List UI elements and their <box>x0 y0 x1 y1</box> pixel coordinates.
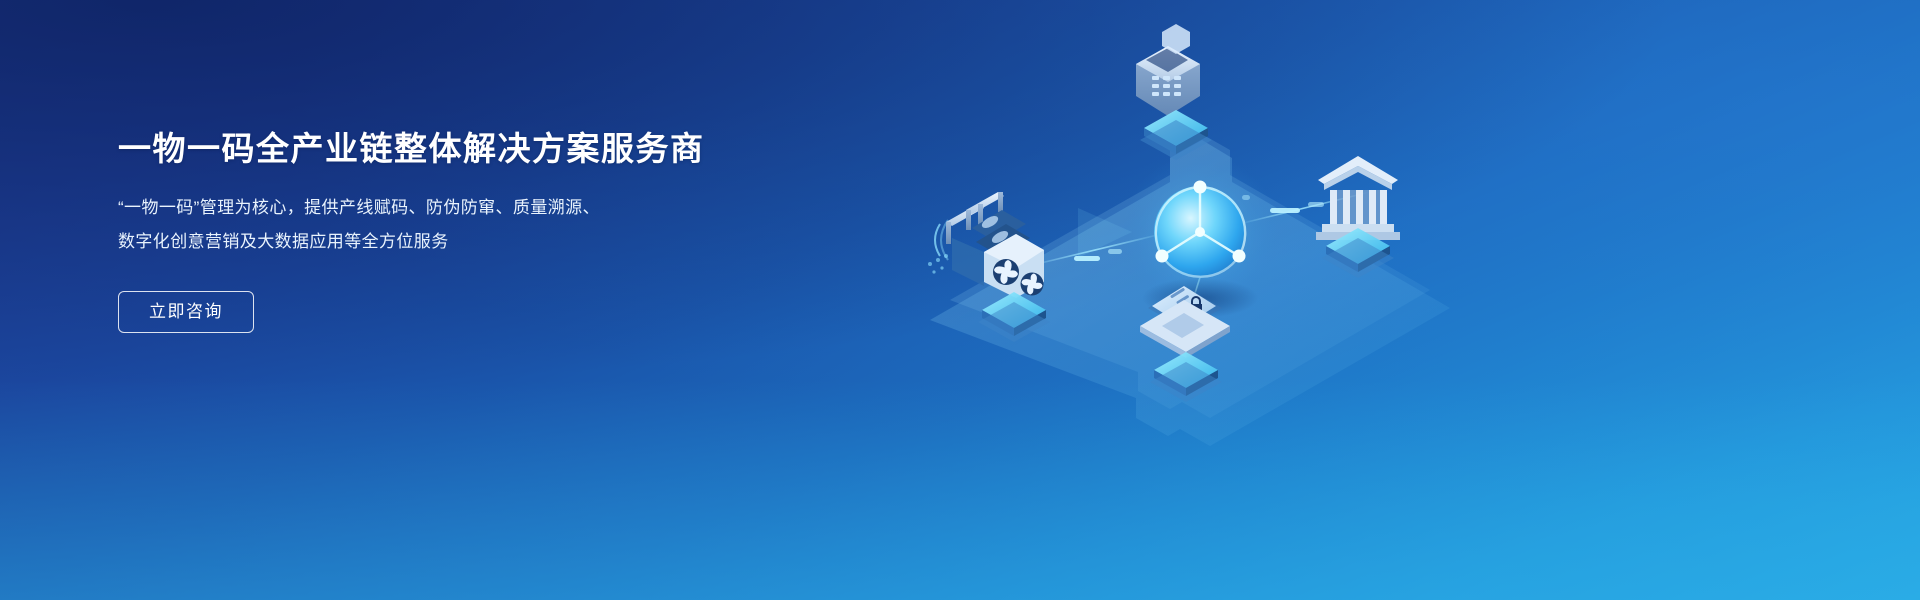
hero-banner: 一物一码全产业链整体解决方案服务商 “一物一码”管理为核心，提供产线赋码、防伪防… <box>0 0 1920 600</box>
server-fan-rack-icon <box>928 192 1050 342</box>
consult-now-button[interactable]: 立即咨询 <box>118 291 254 333</box>
glowing-network-sphere-icon <box>1078 154 1278 318</box>
pos-terminal-icon <box>1136 24 1212 160</box>
bank-building-icon <box>1316 156 1400 278</box>
connection-beams <box>1020 150 1370 315</box>
hero-illustration <box>870 0 1510 600</box>
hero-subtitle-line-1: “一物一码”管理为核心，提供产线赋码、防伪防窜、质量溯源、 <box>118 191 663 225</box>
hero-copy: 一物一码全产业链整体解决方案服务商 “一物一码”管理为核心，提供产线赋码、防伪防… <box>118 128 738 333</box>
background-bottom-glow <box>0 380 1920 600</box>
hero-subtitle: “一物一码”管理为核心，提供产线赋码、防伪防窜、质量溯源、 数字化创意营销及大数… <box>118 191 663 259</box>
laptop-lock-icon <box>1140 286 1230 402</box>
hero-subtitle-line-2: 数字化创意营销及大数据应用等全方位服务 <box>118 225 663 259</box>
platform-layers <box>930 133 1450 446</box>
page-title: 一物一码全产业链整体解决方案服务商 <box>118 128 738 169</box>
